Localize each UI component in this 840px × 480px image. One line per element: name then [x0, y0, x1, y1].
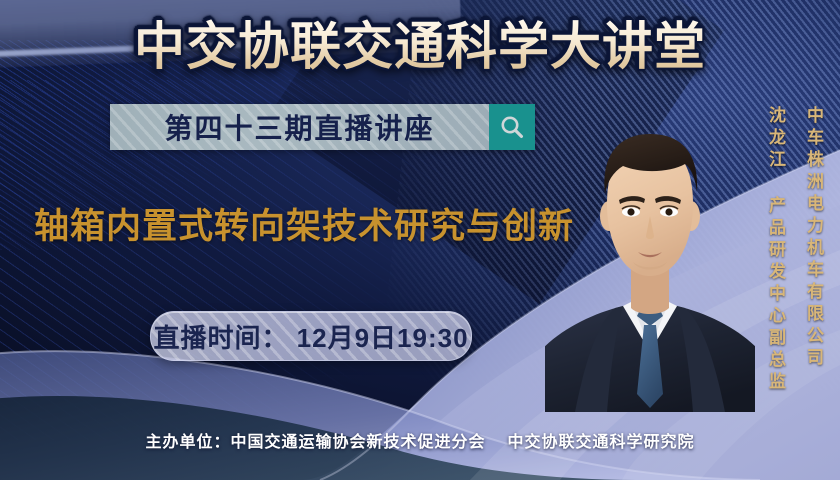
episode-banner: 第四十三期直播讲座 [110, 104, 535, 150]
organizer-label: 主办单位： [145, 434, 230, 451]
search-icon-box[interactable] [489, 104, 535, 150]
speaker-name-role: 沈龙江 产品研发中心副总监 [767, 106, 784, 394]
speaker-portrait [545, 112, 755, 412]
organizer-primary: 中国交通运输协会新技术促进分会 [230, 434, 485, 451]
page-title: 中交协联交通科学大讲堂 [0, 16, 840, 78]
speaker-company: 中车株洲电力机车有限公司 [805, 106, 822, 370]
broadcast-time-text: 直播时间： 12月9日19:30 [153, 318, 468, 355]
live-lecture-poster: 中交协联交通科学大讲堂 第四十三期直播讲座 轴箱内置式转向架技术研究与创新 直播… [0, 0, 840, 480]
lecture-topic: 轴箱内置式转向架技术研究与创新 [34, 198, 574, 249]
search-icon [499, 114, 525, 140]
episode-banner-body: 第四十三期直播讲座 [110, 104, 489, 150]
organizer-secondary: 中交协联交通科学研究院 [508, 434, 695, 451]
broadcast-time-pill: 直播时间： 12月9日19:30 [150, 311, 472, 361]
organizer-footer: 主办单位：中国交通运输协会新技术促进分会中交协联交通科学研究院 [0, 428, 840, 452]
episode-label: 第四十三期直播讲座 [164, 107, 434, 147]
